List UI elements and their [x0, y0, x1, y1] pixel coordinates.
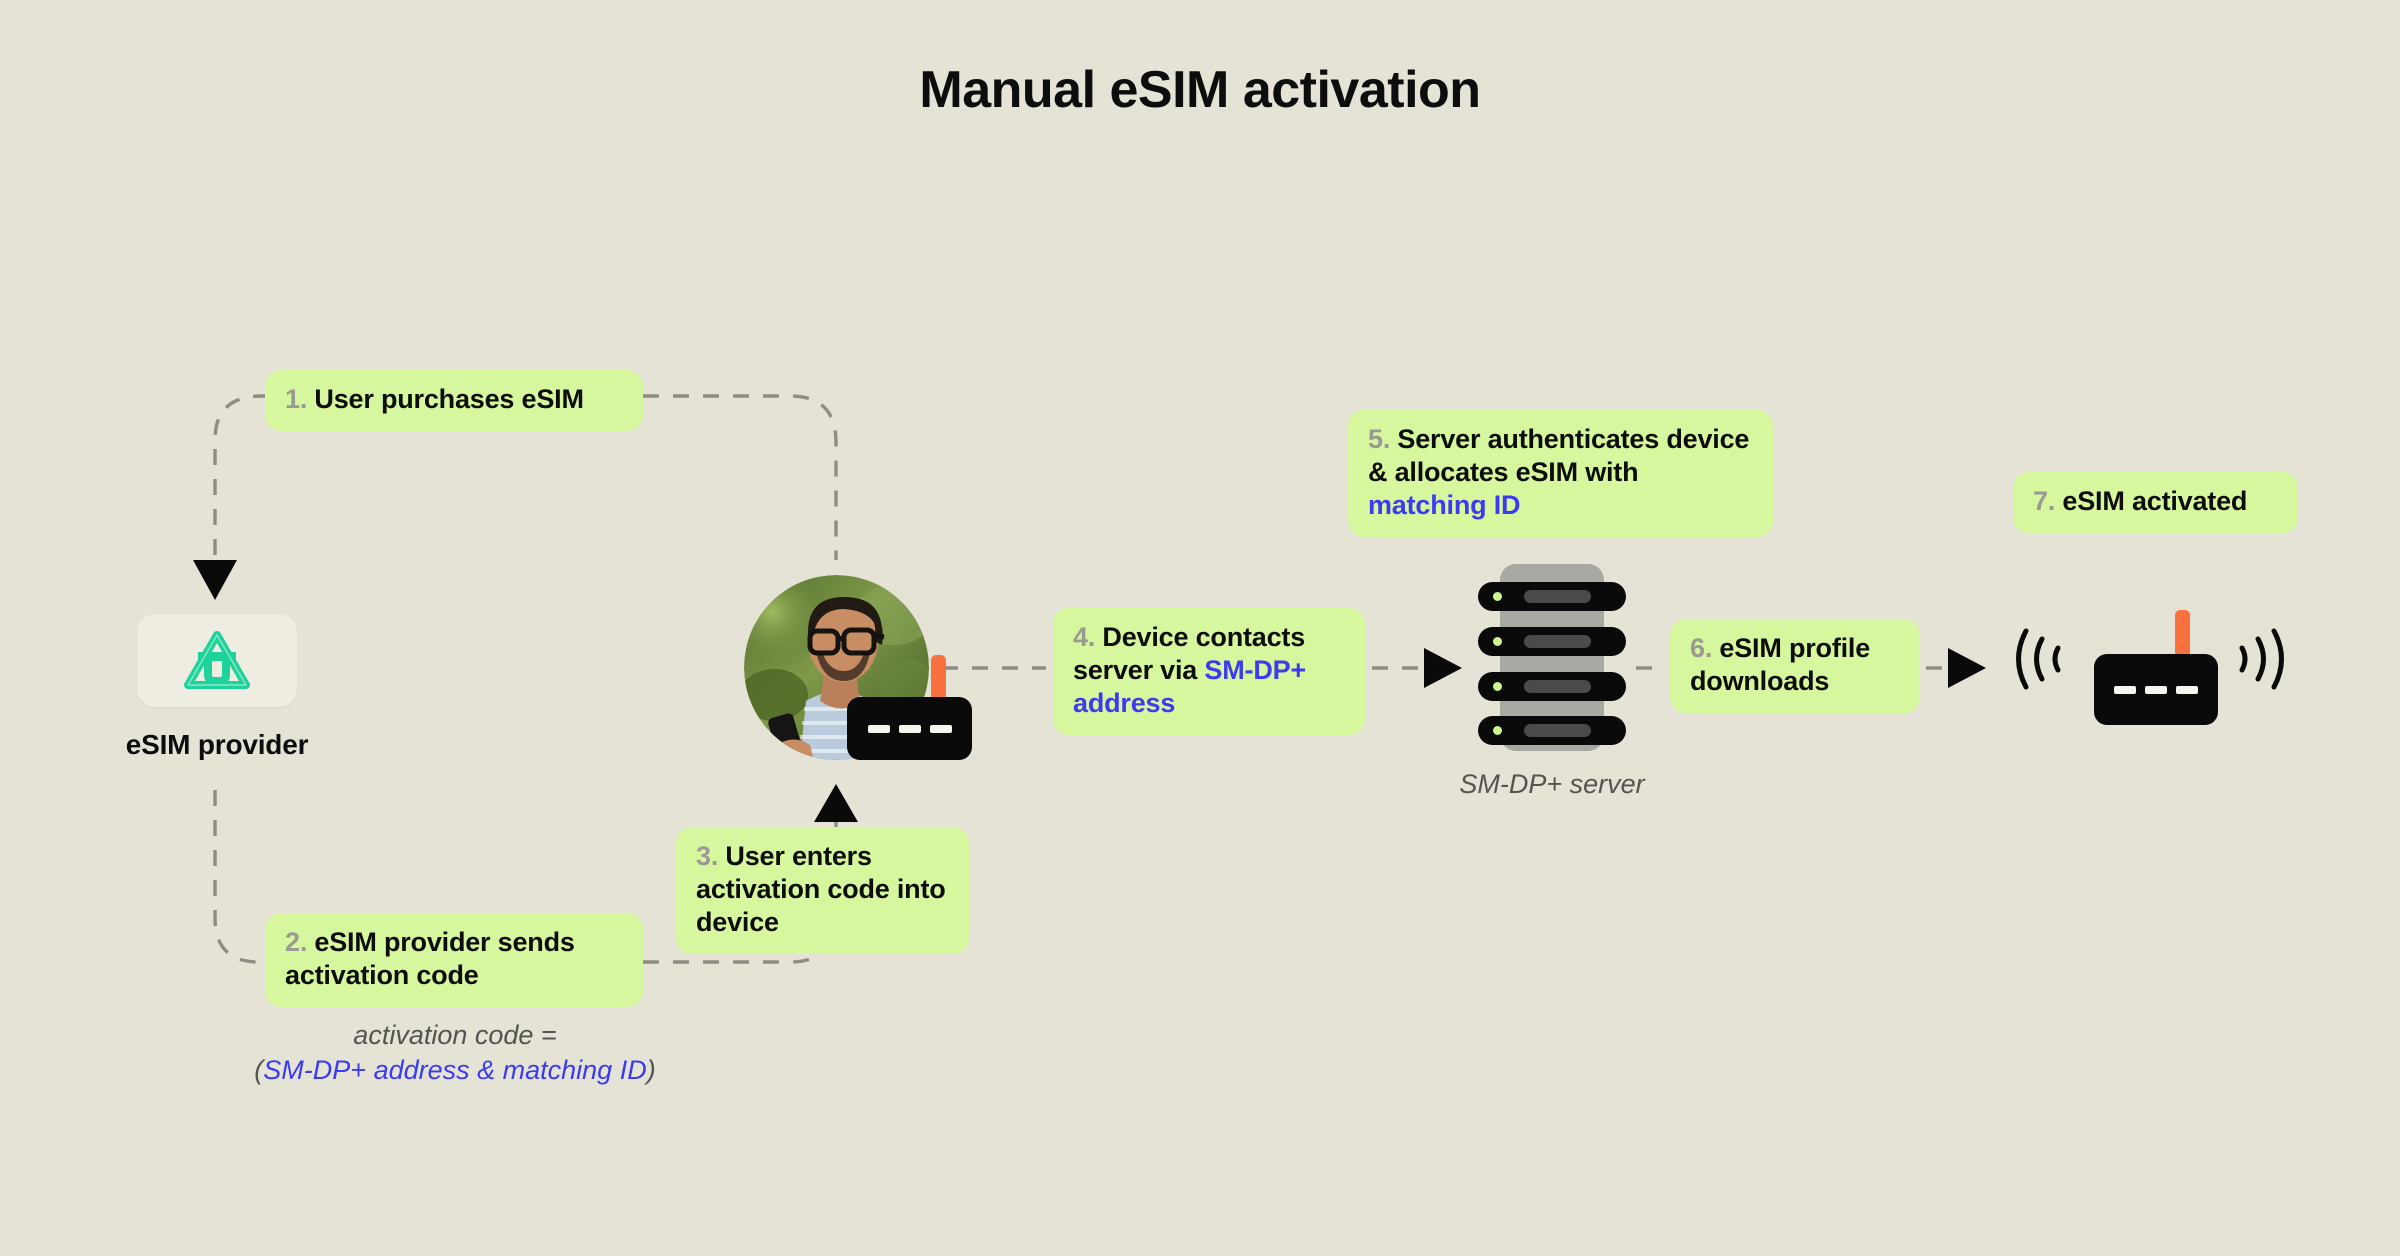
caption-blue-text: SM-DP+ address & matching ID [263, 1055, 646, 1085]
server-label: SM-DP+ server [1422, 769, 1682, 800]
wifi-signal-waves-icon-left [2010, 626, 2066, 692]
provider-logo-card [137, 614, 297, 707]
shopping-bag-logo-icon [184, 631, 250, 691]
node-sm-dp-server[interactable]: SM-DP+ server [1478, 564, 1626, 800]
arrowhead-to-provider [193, 560, 237, 600]
server-slot-2 [1524, 635, 1591, 648]
server-led-3 [1493, 682, 1502, 691]
diagram-canvas: Manual eSIM activation .dash { fill:none… [0, 0, 2400, 1256]
server-slot-3 [1524, 680, 1591, 693]
device-led-2 [2145, 686, 2167, 694]
step-number-2: 2. [285, 927, 314, 957]
step-text-1: User purchases eSIM [314, 384, 583, 414]
device-antenna [931, 655, 946, 701]
device-led-2 [899, 725, 921, 733]
server-rack-unit-4 [1478, 716, 1626, 745]
step-number-3: 3. [696, 841, 725, 871]
router-device-icon-activated [2094, 610, 2218, 715]
page-title: Manual eSIM activation [0, 60, 2400, 120]
server-slot-4 [1524, 724, 1591, 737]
server-rack-unit-2 [1478, 627, 1626, 656]
device-led-1 [868, 725, 890, 733]
server-led-1 [1493, 592, 1502, 601]
wire-step1-right [643, 396, 836, 560]
caption-close-paren: ) [647, 1055, 656, 1085]
server-rack-unit-3 [1478, 672, 1626, 701]
device-body [2094, 654, 2218, 725]
node-esim-provider[interactable]: eSIM provider [137, 614, 297, 761]
caption-open-paren: ( [254, 1055, 263, 1085]
router-device-icon [847, 655, 972, 760]
step-box-2[interactable]: 2. eSIM provider sends activation code [265, 913, 643, 1007]
caption-line-2: (SM-DP+ address & matching ID) [150, 1053, 760, 1088]
server-led-2 [1493, 637, 1502, 646]
node-user-with-device[interactable] [744, 575, 929, 760]
step-box-6[interactable]: 6. eSIM profile downloads [1670, 619, 1920, 713]
activation-code-caption: activation code = (SM-DP+ address & matc… [150, 1018, 760, 1088]
caption-line-1: activation code = [150, 1018, 760, 1053]
step-text-3: User enters activation code into device [696, 841, 946, 937]
server-led-4 [1493, 726, 1502, 735]
step-box-5[interactable]: 5. Server authenticates device & allocat… [1348, 410, 1773, 537]
arrowhead-to-server [1424, 648, 1462, 688]
step-box-3[interactable]: 3. User enters activation code into devi… [676, 827, 969, 954]
step-box-1[interactable]: 1. User purchases eSIM [265, 370, 643, 431]
device-body [847, 697, 972, 760]
provider-label: eSIM provider [109, 729, 325, 761]
server-rack-unit-1 [1478, 582, 1626, 611]
device-antenna [2175, 610, 2190, 658]
node-activated-device[interactable] [2010, 600, 2290, 715]
step-text-7: eSIM activated [2062, 486, 2247, 516]
step-highlight-5: matching ID [1368, 490, 1520, 520]
step-number-6: 6. [1690, 633, 1719, 663]
step-number-5: 5. [1368, 424, 1397, 454]
step-text-2: eSIM provider sends activation code [285, 927, 575, 990]
step-box-4[interactable]: 4. Device contacts server via SM-DP+ add… [1053, 608, 1365, 735]
arrowhead-to-device [814, 784, 858, 822]
step-number-1: 1. [285, 384, 314, 414]
device-led-1 [2114, 686, 2136, 694]
arrowhead-to-router [1948, 648, 1986, 688]
step-box-7[interactable]: 7. eSIM activated [2013, 472, 2298, 533]
device-led-3 [2176, 686, 2198, 694]
server-rack-icon [1478, 564, 1626, 751]
step-number-7: 7. [2033, 486, 2062, 516]
wifi-signal-waves-icon-right [2234, 626, 2290, 692]
step-text-5: Server authenticates device & allocates … [1368, 424, 1749, 487]
step-number-4: 4. [1073, 622, 1102, 652]
server-slot-1 [1524, 590, 1591, 603]
device-led-3 [930, 725, 952, 733]
